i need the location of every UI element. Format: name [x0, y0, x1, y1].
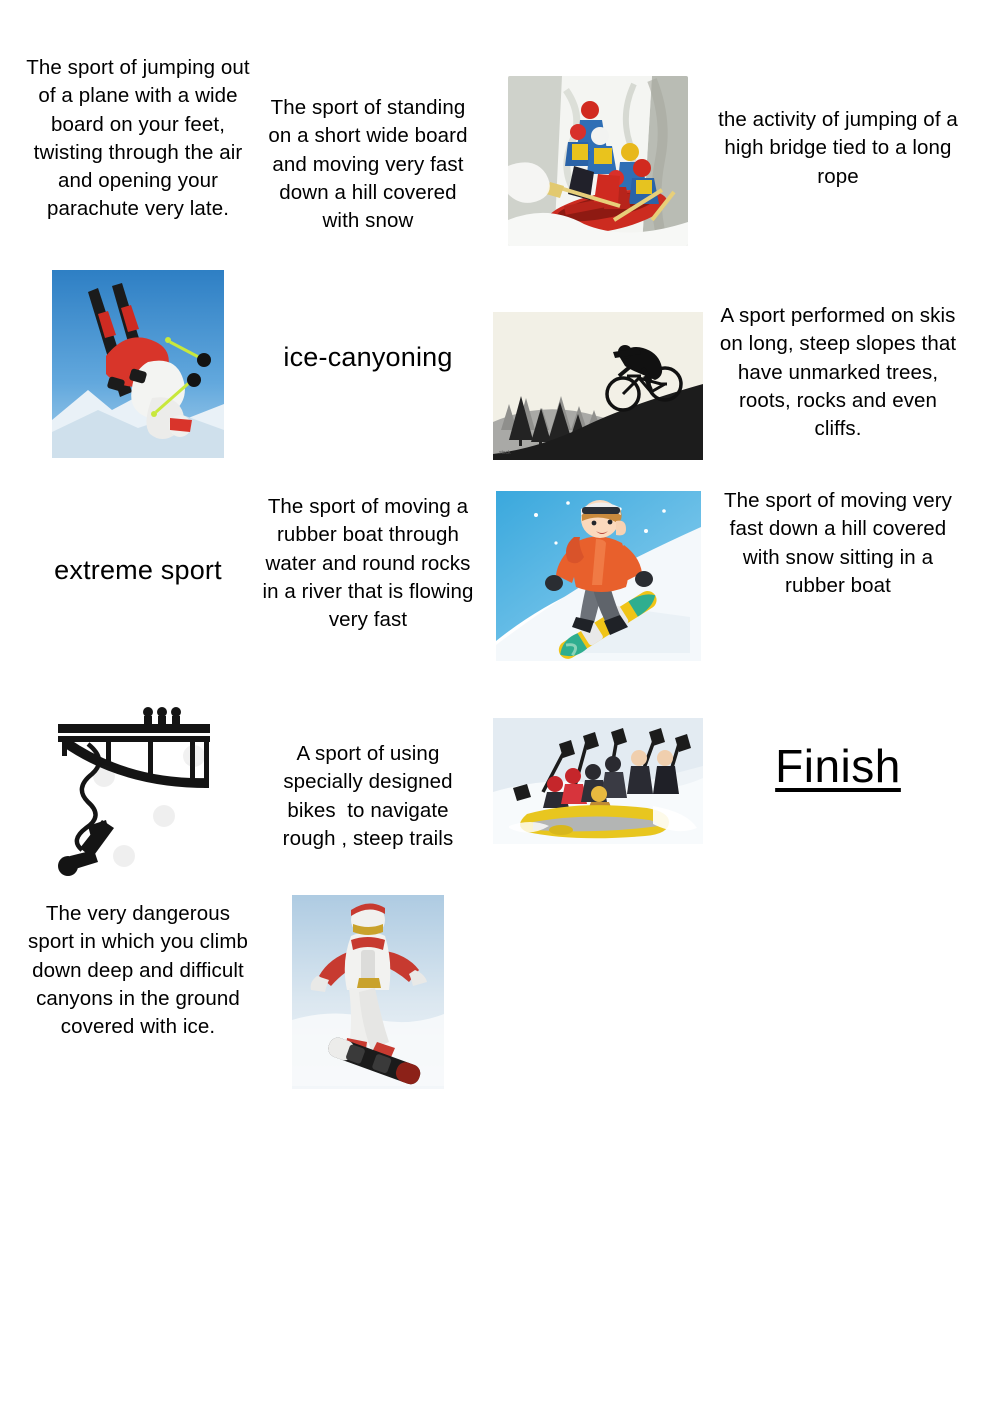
cell-term-ice-canyoning[interactable]: ice-canyoning [254, 270, 482, 377]
photo-freestyle-skiing [52, 270, 224, 458]
definition-text: The sport of jumping out of a plane with… [26, 54, 250, 224]
cell-photo-whitewater-rafting[interactable] [482, 48, 714, 254]
worksheet-page: The sport of jumping out of a plane with… [0, 0, 1000, 1413]
cell-image-cartoon-snowboarder[interactable] [482, 475, 714, 663]
cell-photo-skysurfing[interactable] [254, 892, 482, 1094]
image-cartoon-snowboarder [496, 491, 701, 661]
cell-definition-ice-canyoning[interactable]: The very dangerous sport in which you cl… [22, 892, 254, 1043]
image-bungee-jumping-pictogram [44, 696, 232, 886]
cell-definition-snow-rafting[interactable]: The sport of moving very fast down a hil… [714, 475, 962, 602]
worksheet-row: extreme sport The sport of moving a rubb… [22, 475, 962, 680]
svg-text:stock: stock [499, 450, 511, 456]
definition-text: The sport of moving very fast down a hil… [718, 487, 958, 600]
cell-image-mountain-biking[interactable]: stock [482, 270, 714, 462]
photo-skysurfing [289, 892, 447, 1092]
worksheet-row: The sport of jumping out of a plane with… [22, 48, 962, 270]
cell-definition-skysurfing[interactable]: The sport of jumping out of a plane with… [22, 48, 254, 226]
worksheet-row: ice-canyoning [22, 270, 962, 475]
worksheet-grid: The sport of jumping out of a plane with… [22, 48, 962, 1107]
cell-image-bungee-pictogram[interactable] [22, 680, 254, 888]
image-mountain-biking-silhouette: stock [493, 312, 703, 460]
cell-definition-mountain-biking[interactable]: A sport of using specially designed bike… [254, 680, 482, 855]
cell-photo-snow-rafting[interactable] [482, 680, 714, 850]
worksheet-row: A sport of using specially designed bike… [22, 680, 962, 892]
cell-definition-snowboarding[interactable]: The sport of standing on a short wide bo… [254, 48, 482, 237]
finish-text: Finish [775, 742, 901, 790]
definition-text: A sport performed on skis on long, steep… [718, 302, 958, 443]
definition-text: The very dangerous sport in which you cl… [26, 900, 250, 1041]
photo-snow-rafting [489, 714, 707, 848]
definition-text: The sport of moving a rubber boat throug… [258, 493, 478, 634]
cell-term-extreme-sport[interactable]: extreme sport [22, 475, 254, 590]
term-text: ice-canyoning [283, 340, 452, 375]
empty-cell [714, 892, 962, 896]
term-text: extreme sport [54, 553, 222, 588]
empty-cell [482, 892, 714, 896]
cell-definition-rafting[interactable]: The sport of moving a rubber boat throug… [254, 475, 482, 636]
definition-text: the activity of jumping of a high bridge… [718, 106, 958, 191]
cell-definition-extreme-skiing[interactable]: A sport performed on skis on long, steep… [714, 270, 962, 445]
cell-definition-bungee-jumping[interactable]: the activity of jumping of a high bridge… [714, 48, 962, 193]
photo-whitewater-rafting [502, 70, 694, 252]
worksheet-row: The very dangerous sport in which you cl… [22, 892, 962, 1107]
definition-text: The sport of standing on a short wide bo… [258, 94, 478, 235]
cell-finish-label[interactable]: Finish [714, 680, 962, 792]
definition-text: A sport of using specially designed bike… [258, 740, 478, 853]
cell-photo-freestyle-skiing[interactable] [22, 270, 254, 460]
